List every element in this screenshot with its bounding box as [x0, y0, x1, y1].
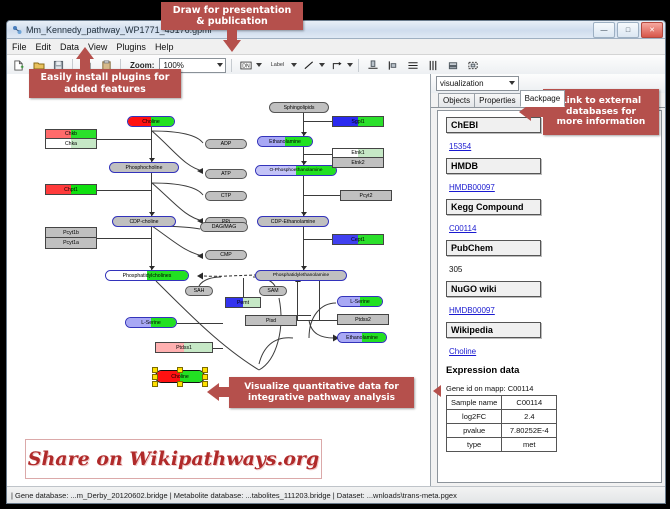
callout-link-arrow-stem — [531, 107, 545, 117]
node-phosphocholine[interactable]: Phosphocholine — [109, 162, 179, 173]
group-icon[interactable] — [464, 57, 481, 74]
callout-plugins-line1: Easily install plugins for — [41, 72, 170, 83]
gene-id-line: Gene id on mapp: C00114 — [446, 384, 661, 393]
node-ptdss1[interactable]: Ptdss1 — [155, 342, 213, 353]
align-left-icon[interactable] — [384, 57, 401, 74]
node-etnk1[interactable]: Etnk1 — [332, 148, 384, 158]
expression-table: Sample name C00114 log2FC 2.4 pvalue 7.8… — [446, 395, 557, 452]
selection-handle[interactable] — [202, 374, 208, 380]
line-icon[interactable] — [300, 57, 317, 74]
db-title-wikipedia: Wikipedia — [446, 322, 541, 338]
chevron-down-icon — [509, 81, 515, 85]
callout-draw-line1: Draw for presentation — [173, 5, 292, 16]
distribute-vertical-icon[interactable] — [404, 57, 421, 74]
expr-label-pvalue: pvalue — [447, 424, 502, 438]
node-phosphatidylethanolamine[interactable]: Phosphatidylethanolamine — [255, 270, 347, 281]
db-title-hmdb: HMDB — [446, 158, 541, 174]
table-row: Sample name C00114 — [447, 396, 557, 410]
visualization-value: visualization — [440, 79, 484, 88]
node-ethanolamine[interactable]: Ethanolamine — [257, 136, 313, 147]
expr-label-type: type — [447, 438, 502, 452]
distribute-horizontal-icon[interactable] — [424, 57, 441, 74]
node-ethanolamine-right[interactable]: Ethanolamine — [337, 332, 387, 343]
callout-link-line2: databases for — [566, 107, 636, 118]
edge-pcyt1-to-reaction — [97, 238, 151, 239]
table-row: pvalue 7.80252E-4 — [447, 424, 557, 438]
callout-link-line3: more information — [557, 117, 646, 128]
node-cept1[interactable]: Cept1 — [332, 234, 384, 245]
pathway-canvas[interactable]: Sphingolipids Choline Ethanolamine ADP A… — [7, 74, 430, 487]
maximize-button[interactable]: □ — [617, 22, 639, 38]
node-chpt1[interactable]: Chpt1 — [45, 184, 97, 195]
expr-value-log2fc: 2.4 — [502, 410, 557, 424]
toolbar-separator — [231, 59, 232, 72]
node-pcyt1b[interactable]: Pcyt1b — [45, 227, 97, 238]
node-etnk2[interactable]: Etnk2 — [332, 158, 384, 168]
pathvisio-icon — [12, 25, 22, 35]
edge-sgpl1-link — [303, 121, 333, 122]
callout-visualize: Visualize quantitative data for integrat… — [229, 377, 414, 408]
title-bar: Mm_Kennedy_pathway_WP1771_45176.gpml — □… — [7, 21, 665, 39]
new-document-icon[interactable] — [10, 57, 27, 74]
edge-lserine-link — [177, 323, 223, 324]
db-title-pubchem: PubChem — [446, 240, 541, 256]
callout-visualize-arrow-left — [207, 383, 219, 401]
window-controls: — □ ✕ — [593, 22, 663, 38]
expr-value-type: met — [502, 438, 557, 452]
status-bar: | Gene database: ...m_Derby_20120602.bri… — [7, 486, 666, 503]
selection-handle[interactable] — [202, 367, 208, 373]
db-link-nugo-wiki[interactable]: HMDB00097 — [449, 306, 495, 315]
callout-draw: Draw for presentation & publication — [161, 2, 303, 30]
node-choline-top[interactable]: Choline — [127, 116, 175, 127]
edge-cdpetn-ptdetn — [303, 227, 304, 270]
node-sphingolipids[interactable]: Sphingolipids — [269, 102, 329, 113]
edge-chk-to-reaction — [97, 139, 151, 140]
menu-bar: File Edit Data View Plugins Help — [7, 39, 665, 55]
share-banner-text: Share on Wikipathways.org — [28, 448, 319, 470]
db-link-chebi[interactable]: 15354 — [449, 142, 471, 151]
pathway-canvas-pane[interactable]: Title: Availa Organi — [7, 74, 431, 487]
visualization-select[interactable]: visualization — [436, 76, 519, 91]
side-panel: visualization Objects Properties Backpag… — [431, 74, 665, 487]
db-link-wikipedia[interactable]: Choline — [449, 347, 476, 356]
node-l-serine-left[interactable]: L-Serine — [125, 317, 177, 328]
arrow-connector-icon[interactable] — [328, 57, 345, 74]
expr-label-log2fc: log2FC — [447, 410, 502, 424]
screenshot-root: Mm_Kennedy_pathway_WP1771_45176.gpml — □… — [0, 0, 670, 509]
edge-chpt1-to-reaction — [97, 190, 151, 191]
tab-properties[interactable]: Properties — [474, 93, 520, 107]
edge-pcyt2-link — [303, 195, 341, 196]
node-chka[interactable]: Chka — [45, 139, 97, 149]
table-row: log2FC 2.4 — [447, 410, 557, 424]
edge-pisd-link — [297, 315, 311, 316]
node-chkb[interactable]: Chkb — [45, 129, 97, 139]
chevron-down-icon[interactable] — [347, 63, 353, 67]
expr-value-sample-name: C00114 — [502, 396, 557, 410]
backpage-content: ChEBI 15354 HMDB HMDB00097 Kegg Compound… — [437, 110, 662, 483]
callout-plugins-arrow-stem — [80, 57, 90, 71]
table-row: type met — [447, 438, 557, 452]
callout-link-line1: Link to external — [561, 96, 641, 107]
chevron-down-icon[interactable] — [319, 63, 325, 67]
callout-draw-line2: & publication — [196, 16, 268, 27]
node-cmp[interactable]: CMP — [205, 250, 247, 260]
callout-visualize-line2: integrative pathway analysis — [248, 393, 395, 404]
label-tool-group[interactable]: Label — [265, 57, 297, 74]
node-l-serine-right[interactable]: L-Serine — [337, 296, 383, 307]
expression-data-heading: Expression data — [446, 365, 661, 376]
node-pisd[interactable]: Pisd — [245, 315, 297, 326]
edge-cept1-link — [303, 239, 333, 240]
close-button[interactable]: ✕ — [641, 22, 663, 38]
tab-backpage[interactable]: Backpage — [520, 90, 566, 107]
callout-plugins-arrow-up — [76, 47, 94, 59]
node-pcyt2[interactable]: Pcyt2 — [340, 190, 392, 201]
node-sam[interactable]: SAM — [259, 286, 287, 296]
callout-draw-arrow-down — [223, 40, 241, 52]
menu-item-plugins[interactable]: Plugins — [116, 42, 146, 52]
node-dag-mag[interactable]: DAG/MAG — [200, 222, 248, 232]
edge-ophospho-cdpetn — [303, 176, 304, 216]
node-cdp-ethanolamine[interactable]: CDP-Ethanolamine — [257, 216, 329, 227]
node-pemt[interactable]: Pemt — [225, 297, 261, 308]
expr-label-sample-name: Sample name — [447, 396, 502, 410]
db-link-kegg-compound[interactable]: C00114 — [449, 224, 476, 233]
toolbar-separator — [358, 59, 359, 72]
selection-handle[interactable] — [177, 381, 183, 387]
minimize-button[interactable]: — — [593, 22, 615, 38]
node-ptdss2[interactable]: Ptdss2 — [337, 314, 389, 325]
label-icon[interactable]: Label — [265, 57, 289, 74]
menu-item-help[interactable]: Help — [155, 42, 174, 52]
db-value-pubchem: 305 — [449, 265, 462, 274]
chevron-down-icon[interactable] — [291, 63, 297, 67]
status-bar-text: | Gene database: ...m_Derby_20120602.bri… — [11, 491, 457, 500]
tab-objects[interactable]: Objects — [438, 93, 475, 107]
chevron-down-icon — [217, 63, 223, 67]
db-link-hmdb[interactable]: HMDB00097 — [449, 183, 495, 192]
callout-plugins: Easily install plugins for added feature… — [29, 69, 181, 98]
node-o-phosphoethanolamine[interactable]: O-Phosphoethanolamine — [255, 165, 337, 176]
callout-visualize-arrow-stem — [219, 387, 231, 397]
main-body: Title: Availa Organi — [7, 74, 665, 487]
share-banner: Share on Wikipathways.org — [25, 439, 322, 479]
selection-handle[interactable] — [152, 374, 158, 380]
align-bottom-icon[interactable] — [364, 57, 381, 74]
node-pcyt1a[interactable]: Pcyt1a — [45, 238, 97, 249]
node-cdp-choline[interactable]: CDP-choline — [112, 216, 176, 227]
menu-item-file[interactable]: File — [12, 42, 27, 52]
datanode-icon[interactable]: DN — [237, 57, 254, 74]
node-phosphatidylcholines[interactable]: Phosphatidylcholines — [105, 270, 189, 281]
selection-handle[interactable] — [152, 381, 158, 387]
edge-etnk-link — [303, 154, 333, 155]
callout-visualize-line1: Visualize quantitative data for — [244, 382, 399, 393]
stack-icon[interactable] — [444, 57, 461, 74]
expr-value-pvalue: 7.80252E-4 — [502, 424, 557, 438]
label-tool-text: Label — [271, 62, 284, 68]
node-ctp[interactable]: CTP — [205, 191, 247, 201]
callout-plugins-line2: added features — [64, 84, 146, 95]
node-adp[interactable]: ADP — [205, 139, 247, 149]
datanode-tool-group[interactable]: DN — [237, 57, 262, 74]
line-tool-group[interactable] — [300, 57, 325, 74]
menu-item-edit[interactable]: Edit — [36, 42, 52, 52]
node-atp[interactable]: ATP — [205, 169, 247, 179]
application-window: Mm_Kennedy_pathway_WP1771_45176.gpml — □… — [6, 20, 666, 504]
callout-link-arrow-secondary — [433, 385, 441, 397]
selection-handle[interactable] — [152, 367, 158, 373]
connector-tool-group[interactable] — [328, 57, 353, 74]
selection-handle[interactable] — [177, 367, 183, 373]
svg-text:DN: DN — [242, 63, 250, 69]
db-title-kegg-compound: Kegg Compound — [446, 199, 541, 215]
chevron-down-icon[interactable] — [256, 63, 262, 67]
db-title-nugo-wiki: NuGO wiki — [446, 281, 541, 297]
node-sgpl1[interactable]: Sgpl1 — [332, 116, 384, 127]
node-sah[interactable]: SAH — [185, 286, 213, 296]
